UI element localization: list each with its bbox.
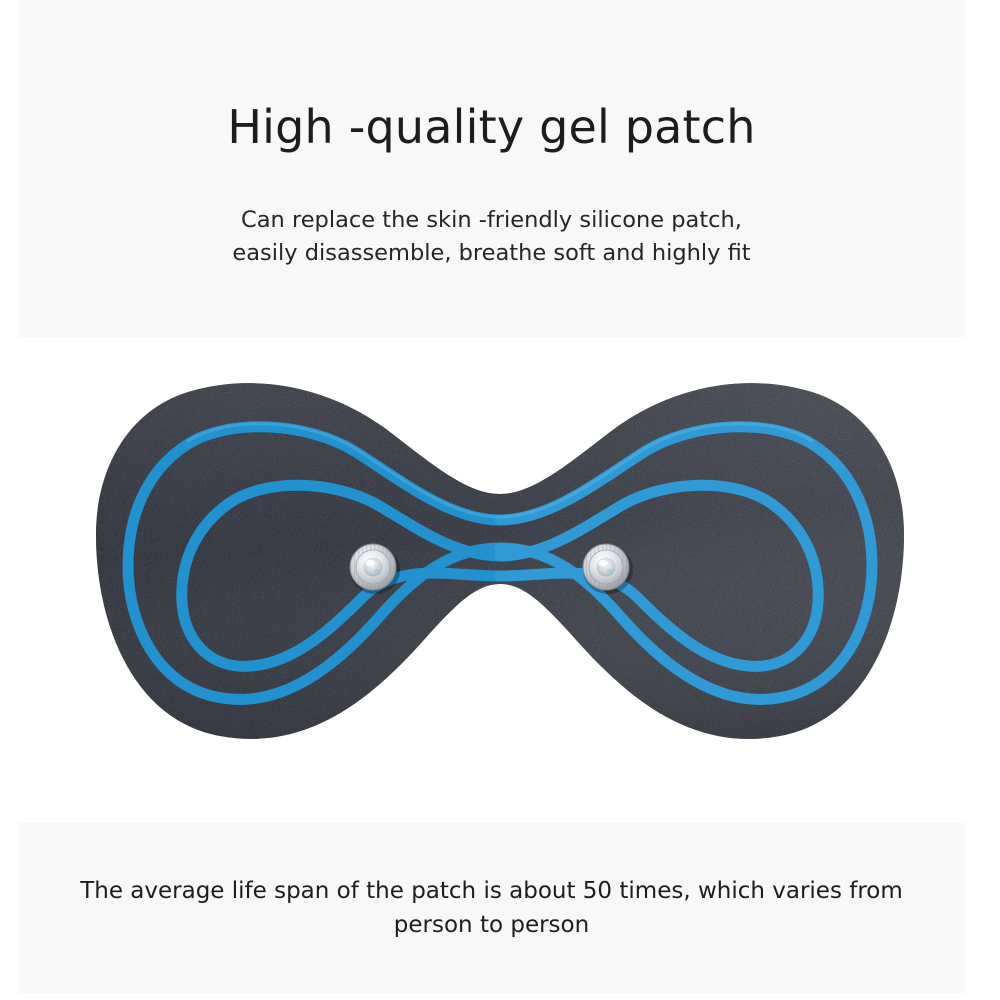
page-title: High -quality gel patch bbox=[227, 102, 755, 153]
gel-patch-photo bbox=[70, 370, 930, 790]
product-image-stage bbox=[0, 337, 1000, 823]
header-band: High -quality gel patch Can replace the … bbox=[18, 0, 965, 337]
subtitle-line-1: Can replace the skin -friendly silicone … bbox=[232, 204, 750, 237]
product-detail-page: High -quality gel patch Can replace the … bbox=[0, 0, 1000, 1000]
footer-band: The average life span of the patch is ab… bbox=[18, 823, 965, 993]
footer-caption-line-1: The average life span of the patch is ab… bbox=[80, 874, 903, 909]
footer-caption-block: The average life span of the patch is ab… bbox=[20, 874, 963, 943]
subtitle-block: Can replace the skin -friendly silicone … bbox=[232, 204, 750, 269]
footer-caption-line-2: person to person bbox=[80, 908, 903, 943]
subtitle-line-2: easily disassemble, breathe soft and hig… bbox=[232, 237, 750, 270]
